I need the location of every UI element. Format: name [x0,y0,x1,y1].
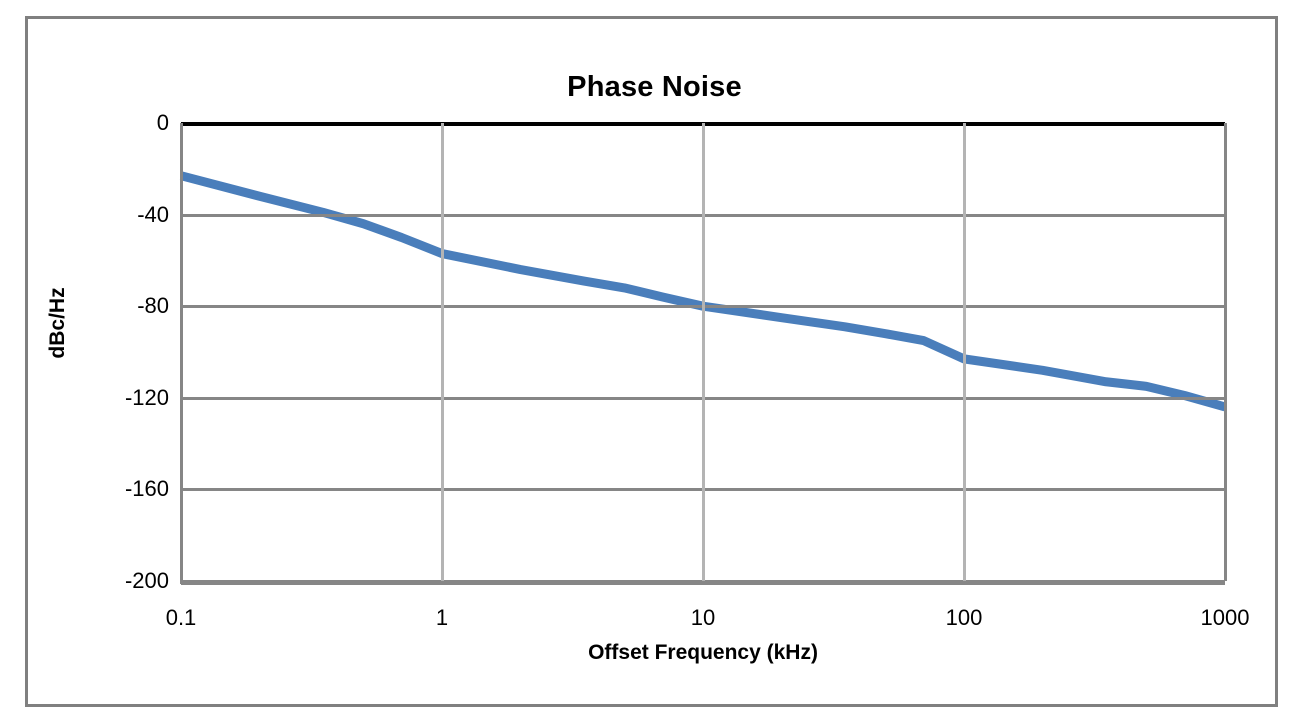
x-tick-label: 1 [436,605,448,631]
gridline-vertical [180,123,183,584]
x-tick-label: 100 [946,605,983,631]
y-axis-tick-labels: 0-40-80-120-160-200 [56,123,169,581]
chart-title: Phase Noise [28,71,1281,104]
y-tick-label: -40 [137,202,169,228]
gridline-vertical [1224,123,1227,581]
gridline-vertical [963,123,966,581]
y-tick-label: -120 [125,385,169,411]
chart-container: Phase Noise dBc/Hz 0-40-80-120-160-200 0… [25,16,1278,707]
y-tick-label: -200 [125,568,169,594]
x-tick-label: 0.1 [166,605,197,631]
y-tick-label: 0 [157,110,169,136]
x-tick-label: 10 [691,605,715,631]
gridline-vertical [702,123,705,581]
x-axis-title: Offset Frequency (kHz) [181,641,1225,665]
x-tick-label: 1000 [1201,605,1250,631]
y-tick-label: -160 [125,476,169,502]
plot-area [181,123,1225,581]
gridline-vertical [441,123,444,581]
x-axis-tick-labels: 0.11101001000 [181,597,1225,631]
y-tick-label: -80 [137,293,169,319]
